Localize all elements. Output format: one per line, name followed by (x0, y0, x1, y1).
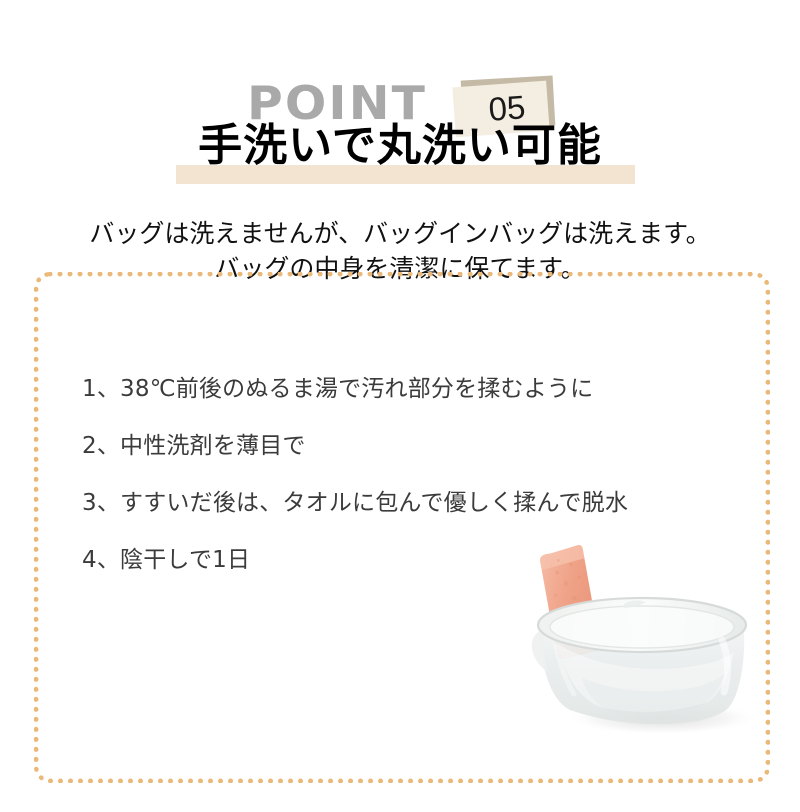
list-item: 1、38℃前後のぬるま湯で汚れ部分を揉むように (82, 378, 722, 401)
point-05-handwash-card: POINT 05 手洗いで丸洗い可能 バッグは洗えませんが、バッグインバッグは洗… (0, 0, 800, 812)
wash-basin-with-sponge-photo (512, 528, 792, 760)
list-item: 2、中性洗剤を薄目で (82, 435, 722, 458)
subtitle-line-1: バッグは洗えませんが、バッグインバッグは洗えます。 (0, 216, 800, 251)
list-item: 3、すすいだ後は、タオルに包んで優しく揉んで脱水 (82, 492, 722, 515)
heading-block: 手洗いで丸洗い可能 (0, 120, 800, 182)
point-header-row: POINT 05 (0, 36, 800, 114)
page-title: 手洗いで丸洗い可能 (0, 120, 800, 172)
